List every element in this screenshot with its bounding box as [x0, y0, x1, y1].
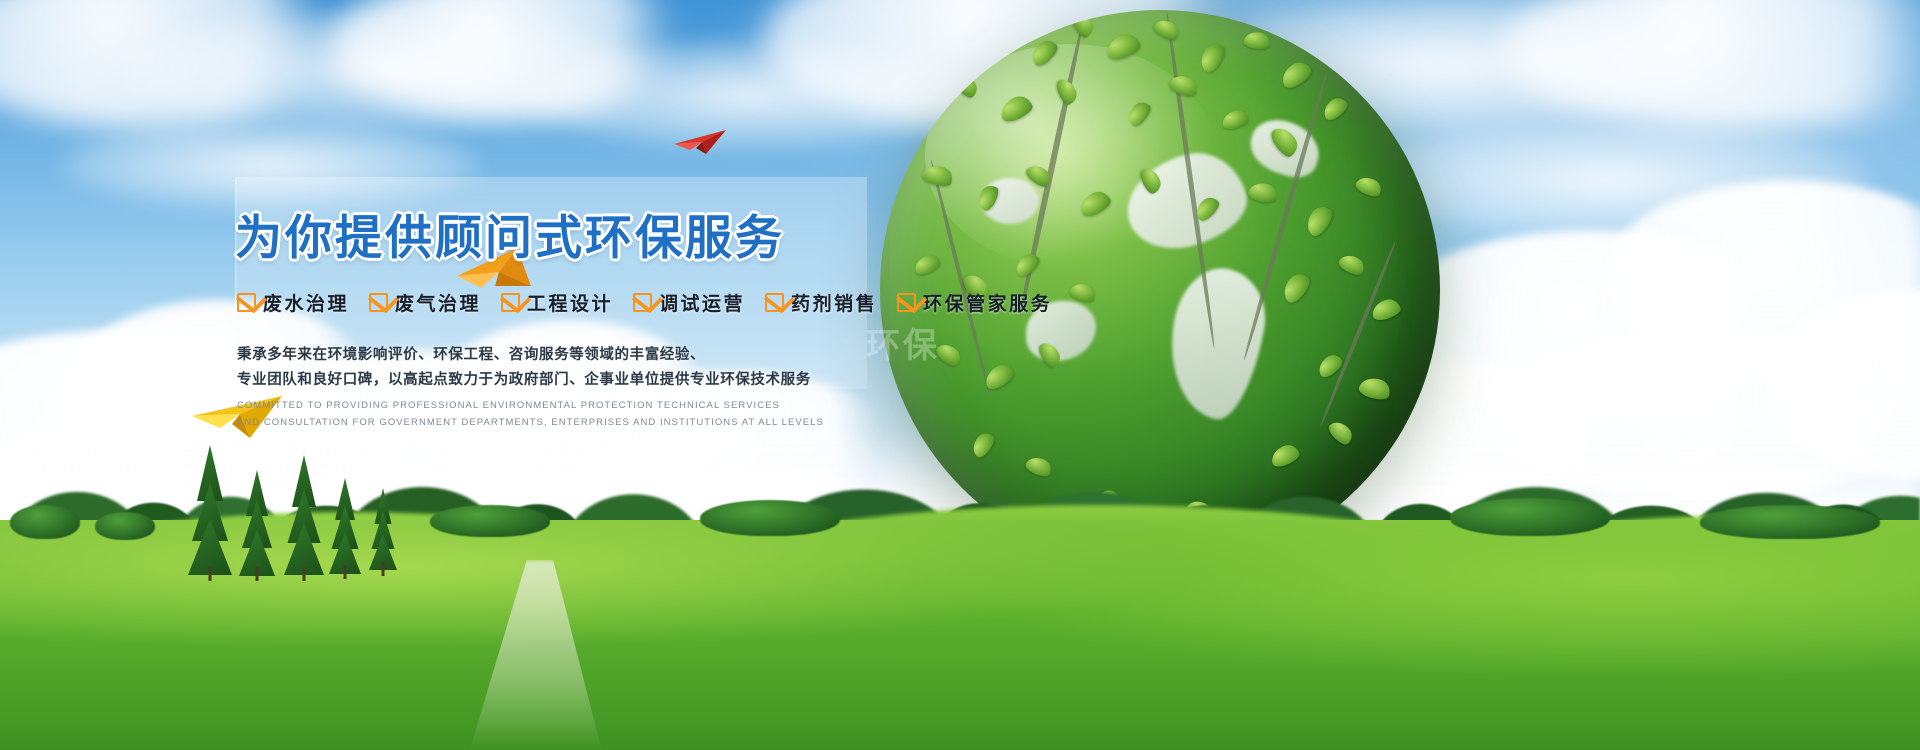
shrub	[10, 505, 80, 539]
checkbox-checked-icon	[501, 293, 520, 312]
shrub	[430, 505, 550, 537]
page-title: 为你提供顾问式环保服务	[235, 199, 1135, 268]
watermark-text: 环保	[866, 318, 940, 367]
description-english-line: COMMITTED TO PROVIDING PROFESSIONAL ENVI…	[237, 397, 824, 414]
shrub	[1700, 505, 1880, 539]
red-paper-plane	[672, 128, 728, 158]
checkbox-checked-icon	[237, 293, 256, 312]
feature-label: 调试运营	[659, 289, 745, 316]
conifer-tree	[330, 478, 360, 573]
conifer-tree	[190, 445, 230, 575]
feature-label: 废气治理	[395, 289, 481, 316]
checkbox-checked-icon	[765, 293, 784, 312]
feature-label: 工程设计	[527, 289, 613, 316]
description-chinese-line: 专业团队和良好口碑，以高起点致力于为政府部门、企事业单位提供专业环保技术服务	[237, 368, 811, 393]
conifer-tree	[285, 455, 323, 575]
feature-item-chemical-sales[interactable]: 药剂销售	[765, 289, 877, 316]
feature-item-waste-gas[interactable]: 废气治理	[369, 289, 481, 316]
feature-item-environmental-steward-service[interactable]: 环保管家服务	[897, 289, 1052, 316]
feature-item-engineering-design[interactable]: 工程设计	[501, 289, 613, 316]
shrub	[700, 500, 840, 536]
shrub	[95, 512, 155, 540]
feature-item-commissioning-operation[interactable]: 调试运营	[633, 289, 745, 316]
hero-banner: 环保 为你提供顾问式环保服务 废水治理 废气治理 工程设计 调试运营	[0, 0, 1920, 750]
feature-list: 废水治理 废气治理 工程设计 调试运营 药剂销售 环保管家服务	[237, 289, 1052, 316]
checkbox-checked-icon	[369, 293, 388, 312]
description-english-line: AND CONSULTATION FOR GOVERNMENT DEPARTME…	[237, 414, 824, 431]
description-chinese-line: 秉承多年来在环境影响评价、环保工程、咨询服务等领域的丰富经验、	[237, 343, 811, 368]
checkbox-checked-icon	[633, 293, 652, 312]
shrub	[1450, 498, 1610, 536]
checkbox-checked-icon	[897, 293, 916, 312]
conifer-tree	[370, 488, 396, 570]
description-english: COMMITTED TO PROVIDING PROFESSIONAL ENVI…	[237, 397, 824, 431]
feature-label: 废水治理	[263, 289, 349, 316]
feature-label: 环保管家服务	[923, 289, 1052, 316]
description-chinese: 秉承多年来在环境影响评价、环保工程、咨询服务等领域的丰富经验、 专业团队和良好口…	[237, 343, 811, 393]
conifer-tree	[240, 470, 274, 575]
feature-item-wastewater[interactable]: 废水治理	[237, 289, 349, 316]
feature-label: 药剂销售	[791, 289, 877, 316]
